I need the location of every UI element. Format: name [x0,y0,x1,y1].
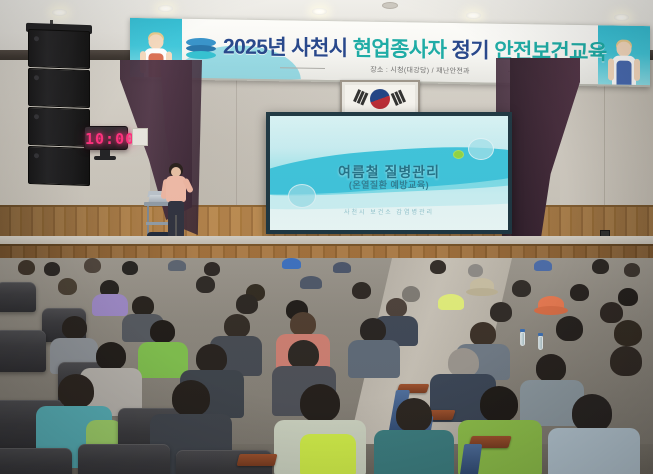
audience-head [58,278,77,295]
audience-head [610,346,642,376]
audience-head [236,294,258,314]
speaker-cabinet [28,68,90,108]
audience-head [150,320,175,343]
ceiling-downlight [614,14,629,21]
water-bottle[interactable] [538,336,543,350]
audience-head [352,282,371,299]
sacheon-city-logo-icon [186,38,216,60]
projection-screen: 여름철 질병관리 (온열질환 예방교육) 사천시 보건소 감염병관리 [270,116,508,230]
audience-head [556,316,583,341]
audience-head [572,394,612,432]
audience-cap-blue [534,260,552,271]
audience-head [122,261,138,275]
presenter-leg-gap [175,215,177,237]
audience-head [18,260,35,275]
audience-head [430,260,446,274]
bottle-cap [538,333,543,336]
trigram-icon [391,89,408,107]
slide-footer: 사천시 보건소 감염병관리 [270,207,508,216]
bottle-cap [520,329,525,332]
seat-foreground[interactable] [0,448,72,474]
ceiling-downlight [312,8,327,15]
clock-base [94,156,116,160]
audience-head [470,322,496,346]
line-array-speaker-stack [28,29,90,191]
audience-head [62,316,87,339]
audience-head [288,340,319,369]
audience-head [290,312,316,336]
slide-bubble-green-icon [453,150,464,159]
audience-torso-purple [92,294,128,316]
audience-head [204,262,220,276]
audience-cap-blue [282,258,301,269]
wall-seam [236,60,237,208]
audience-head [132,296,154,316]
worker-character-icon [609,41,639,87]
ceiling-downlight [52,9,67,16]
audience-safety-vest [300,434,356,474]
audience-head [386,298,407,317]
audience-head [570,284,589,301]
presenter-speaker [163,163,189,241]
speaker-cabinet [28,107,90,147]
wall-access-panel [132,128,148,146]
speaker-cabinet [28,29,90,69]
audience-head [96,342,126,370]
audience-head [172,380,210,416]
ceiling-downlight [466,12,481,19]
seat[interactable] [0,282,36,312]
audience-head [396,398,432,432]
audience-head-gray [468,264,483,277]
seat[interactable] [0,330,46,372]
audience-cap [300,276,322,289]
slide-bubble-icon [468,138,494,160]
audience-hat-yellow [438,294,464,310]
audience-head [196,344,227,373]
audience-head [196,276,215,293]
audience-head [600,302,623,323]
trigram-icon [353,89,370,107]
audience-torso-green-vest [138,342,188,378]
seat-armrest [237,454,278,466]
audience-head [480,386,518,422]
auditorium-photo: 2025년 사천시 현업종사자 정기 안전보건교육 장소 : 시청(대강당) /… [0,0,653,474]
audience-head [512,280,531,297]
banner-title-audience: 현업종사자 [353,37,447,61]
audience-torso [348,340,400,378]
audience-head [624,263,640,277]
banner-title-regular: 정기 [452,39,489,63]
audience-head [618,288,638,306]
audience-head [58,374,94,408]
audience-head [44,262,60,276]
audience-cap [168,260,186,271]
hat-brim [534,306,568,315]
audience-head [84,258,101,273]
water-bottle[interactable] [520,332,525,346]
audience-head [360,318,386,342]
seat-foreground[interactable] [78,444,170,474]
audience-head [614,320,642,346]
audience-head-gray [402,286,420,302]
taeguk-circle-icon [370,89,390,109]
ceiling-vent [382,2,398,9]
speaker-cabinet [28,146,90,186]
projection-screen-frame: 여름철 질병관리 (온열질환 예방교육) 사천시 보건소 감염병관리 [266,112,512,234]
audience-seating-area [0,258,653,474]
hat-brim [466,288,498,296]
audience-head [536,354,566,382]
audience-cap [333,262,351,273]
audience-head [224,314,250,338]
audience-head [490,302,512,322]
audience-torso [374,430,454,474]
audience-head [592,259,609,274]
audience-head-gray [448,348,479,377]
audience-torso-floral [548,428,640,474]
led-wall-clock: 10:00 [84,126,128,150]
audience-head [300,384,340,422]
clock-time-display: 10:00 [85,130,127,148]
slide-subtitle: (온열질환 예방교육) [270,178,508,191]
korean-flag [345,85,415,113]
ceiling-downlight [158,5,173,12]
banner-title-year-city: 2025년 사천시 [223,35,347,60]
